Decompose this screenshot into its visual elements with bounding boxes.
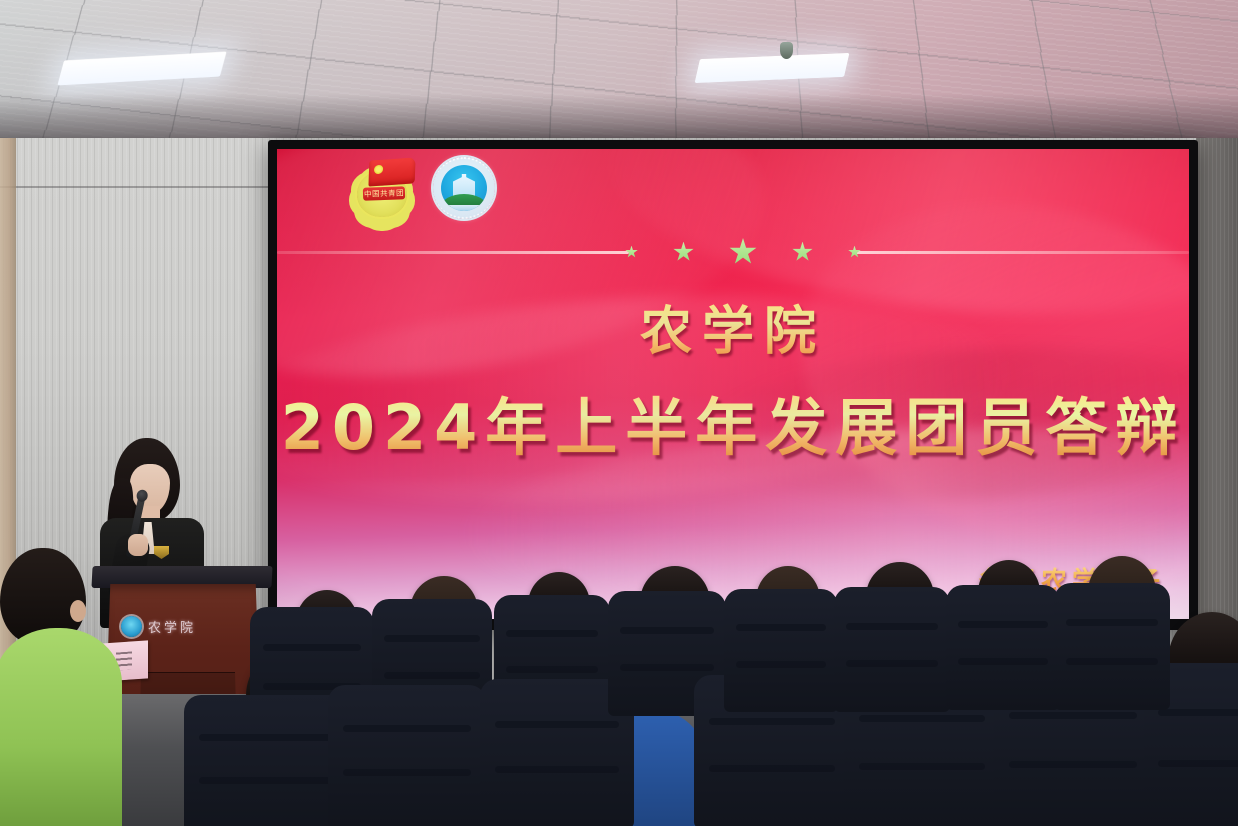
seat-band [736, 624, 826, 631]
seat-band [1158, 709, 1238, 716]
ceiling-sprinkler-head [780, 42, 793, 59]
ceiling [0, 0, 1238, 152]
seat-band [343, 725, 472, 732]
auditorium-seat[interactable] [334, 690, 480, 826]
seat-band [859, 715, 986, 722]
auditorium-seat[interactable] [840, 592, 944, 710]
wall-seam-left [0, 186, 268, 188]
seat-band [958, 658, 1048, 665]
podium-institution-label: 农学院 [148, 617, 196, 636]
seat-band [384, 635, 479, 642]
seat-band [859, 763, 986, 770]
auditorium-seat[interactable] [730, 594, 832, 710]
seat-band [506, 666, 598, 673]
foreground-person-green-shirt [0, 628, 122, 826]
seat-band [736, 661, 826, 668]
seat-band [199, 734, 331, 741]
seat-band [620, 627, 713, 634]
seat-band [1009, 761, 1138, 768]
auditorium-seat[interactable] [1060, 588, 1164, 708]
seat-band [958, 621, 1048, 628]
seat-band [495, 721, 620, 728]
seat-band [846, 660, 938, 667]
auditorium-seat[interactable] [952, 590, 1054, 708]
foreground-person-ear [70, 600, 86, 622]
led-screen-bezel: 中国共青团 [268, 140, 1198, 630]
seat-band [506, 630, 598, 637]
seat-band [1066, 619, 1158, 626]
seat-band [846, 623, 938, 630]
auditorium-seat[interactable] [190, 700, 340, 826]
seat-band [384, 672, 479, 679]
seat-band [709, 718, 836, 725]
seat-band [343, 769, 472, 776]
auditorium-scene: 中国共青团 [0, 0, 1238, 826]
seat-band [495, 766, 620, 773]
speaker-hand [128, 534, 148, 556]
seat-band [263, 644, 362, 651]
seat-band [1066, 658, 1158, 665]
podium-university-seal-icon [121, 616, 142, 637]
seat-band [620, 664, 713, 671]
screen-vignette [277, 149, 1189, 619]
seat-band [1009, 712, 1138, 719]
seat-band [199, 777, 331, 784]
seat-band [1158, 760, 1238, 767]
auditorium-seat[interactable] [486, 684, 628, 826]
seat-band [709, 765, 836, 772]
led-screen: 中国共青团 [277, 149, 1189, 619]
